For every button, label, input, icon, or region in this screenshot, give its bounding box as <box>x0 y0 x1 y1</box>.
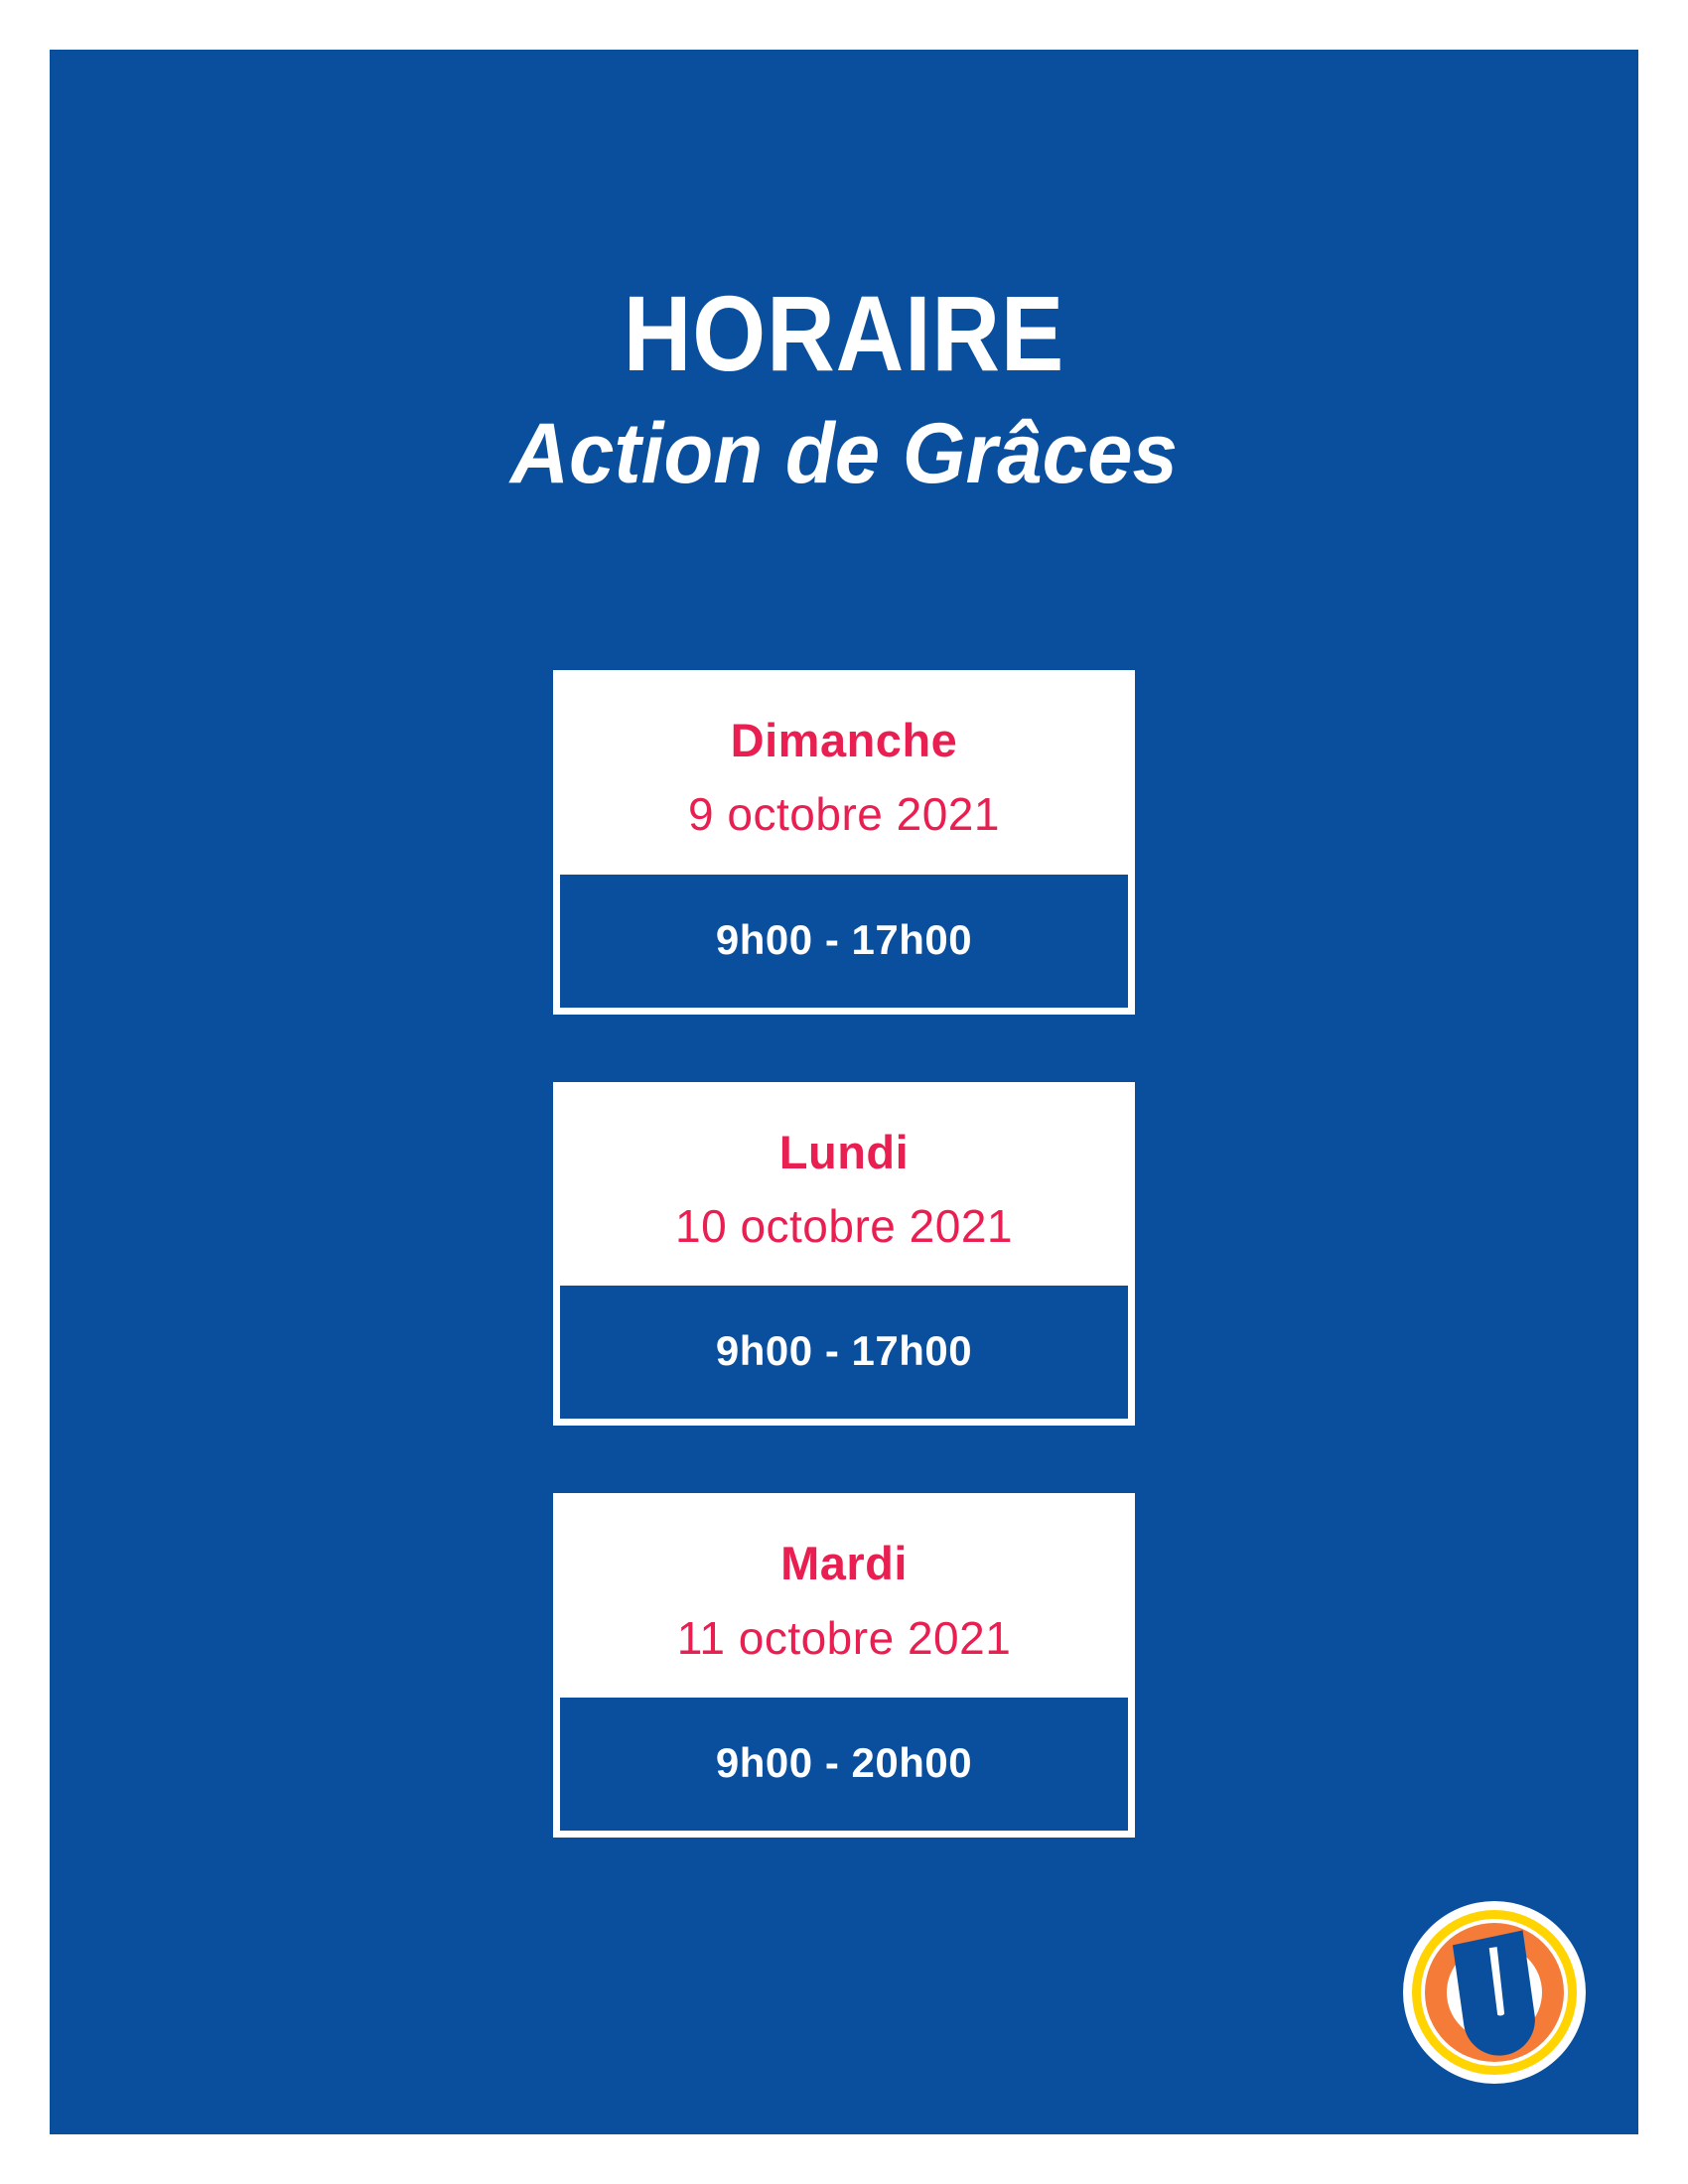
page-subtitle: Action de Grâces <box>89 411 1599 496</box>
schedule-day-name: Dimanche <box>570 716 1118 764</box>
uniprix-logo-icon <box>1400 1898 1589 2087</box>
schedule-card-list: Dimanche 9 octobre 2021 9h00 - 17h00 Lun… <box>50 670 1638 1838</box>
page-title: HORAIRE <box>145 280 1543 387</box>
schedule-day-name: Mardi <box>570 1539 1118 1587</box>
schedule-day-name: Lundi <box>570 1128 1118 1176</box>
schedule-hours: 9h00 - 17h00 <box>560 1286 1128 1419</box>
schedule-date: 10 octobre 2021 <box>570 1202 1118 1250</box>
schedule-hours: 9h00 - 17h00 <box>560 875 1128 1008</box>
schedule-hours: 9h00 - 20h00 <box>560 1698 1128 1831</box>
schedule-card: Lundi 10 octobre 2021 9h00 - 17h00 <box>553 1082 1135 1427</box>
schedule-date: 9 octobre 2021 <box>570 790 1118 838</box>
schedule-date: 11 octobre 2021 <box>570 1614 1118 1662</box>
schedule-card-header: Mardi 11 octobre 2021 <box>560 1493 1128 1698</box>
schedule-card: Mardi 11 octobre 2021 9h00 - 20h00 <box>553 1493 1135 1838</box>
schedule-card: Dimanche 9 octobre 2021 9h00 - 17h00 <box>553 670 1135 1015</box>
poster-header: HORAIRE Action de Grâces <box>50 50 1638 496</box>
schedule-card-header: Dimanche 9 octobre 2021 <box>560 670 1128 875</box>
schedule-card-header: Lundi 10 octobre 2021 <box>560 1082 1128 1287</box>
poster-panel: HORAIRE Action de Grâces Dimanche 9 octo… <box>50 50 1638 2134</box>
